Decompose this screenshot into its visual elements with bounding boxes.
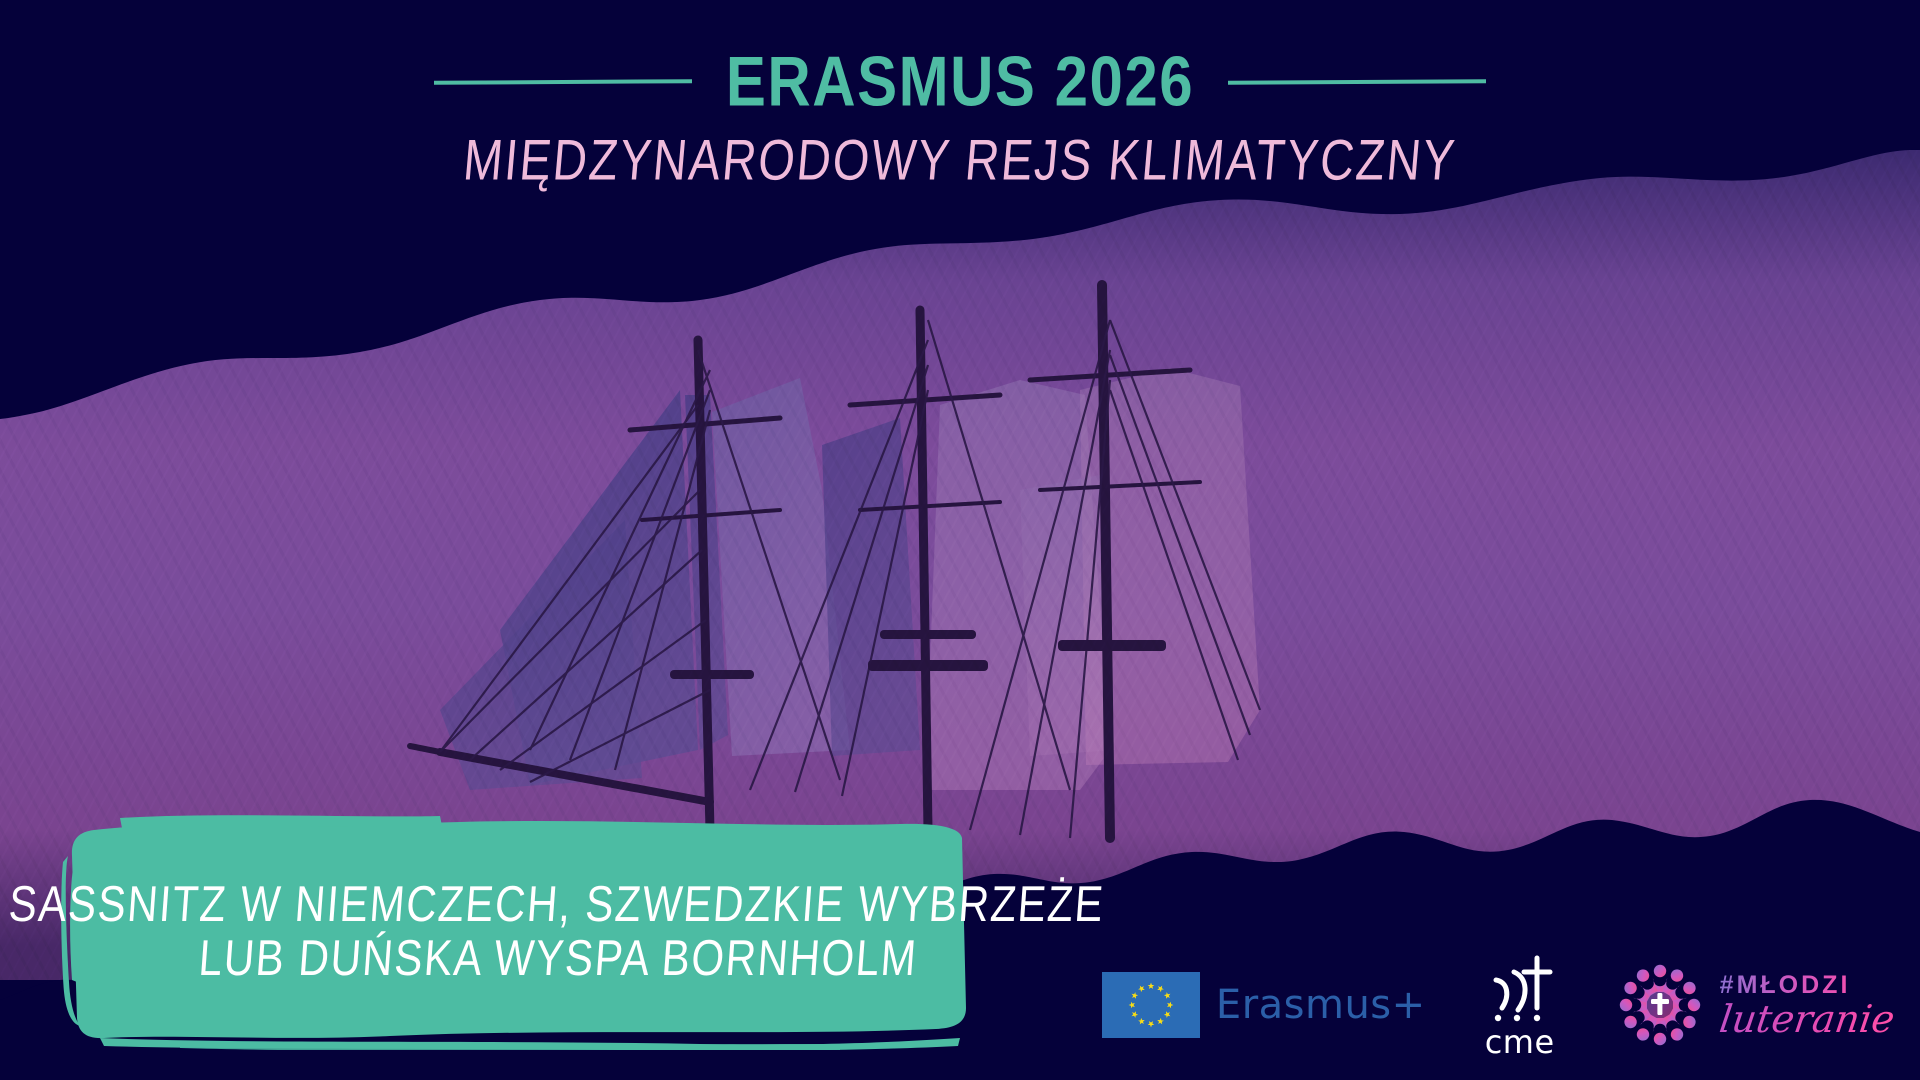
logo-mlodzi-luteranie: #MŁODZI luteranie	[1614, 959, 1894, 1051]
european-union-flag-icon	[1102, 972, 1200, 1038]
poster-header: ERASMUS 2026 MIĘDZYNARODOWY REJS KLIMATY…	[0, 0, 1920, 230]
banner-text-block: SASSNITZ W NIEMCZECH, SZWEDZKIE WYBRZEŻE…	[60, 812, 1160, 1050]
logo-erasmus-plus: Erasmus+	[1102, 972, 1426, 1038]
logo-strip: Erasmus+	[1102, 952, 1894, 1058]
right-rule-decoration	[1228, 79, 1486, 85]
page-subtitle: MIĘDZYNARODOWY REJS KLIMATYCZNY	[0, 126, 1920, 193]
mlodzi-hashtag: #MŁODZI	[1720, 973, 1851, 998]
page-title: ERASMUS 2026	[726, 47, 1194, 118]
circle-of-people-icon	[1614, 959, 1706, 1051]
luteranie-script: luteranie	[1717, 1000, 1897, 1038]
cme-wordmark: cme	[1485, 1026, 1555, 1058]
cme-cross-icon	[1482, 952, 1558, 1024]
erasmus-plus-wordmark: Erasmus+	[1216, 985, 1426, 1025]
banner-line-secondary: LUB DUŃSKA WYSPA BORNHOLM	[197, 929, 920, 987]
logo-cme: cme	[1482, 952, 1558, 1058]
banner-line-primary: SASSNITZ W NIEMCZECH, SZWEDZKIE WYBRZEŻE	[7, 875, 1107, 933]
mlodzi-wordmark-block: #MŁODZI luteranie	[1720, 973, 1894, 1038]
left-rule-decoration	[434, 79, 692, 85]
title-row: ERASMUS 2026	[0, 52, 1920, 112]
poster-canvas: ERASMUS 2026 MIĘDZYNARODOWY REJS KLIMATY…	[0, 0, 1920, 1080]
location-banner: SASSNITZ W NIEMCZECH, SZWEDZKIE WYBRZEŻE…	[60, 812, 1160, 1050]
